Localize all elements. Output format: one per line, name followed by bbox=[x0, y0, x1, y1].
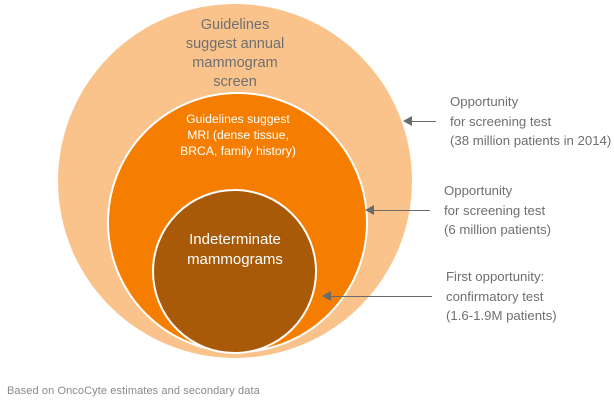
circle-label-annual-mammogram-screen: Guidelines suggest annual mammogram scre… bbox=[140, 16, 330, 93]
callout-text-middle: Opportunity for screening test (6 millio… bbox=[444, 181, 551, 240]
arrow-left-icon bbox=[403, 116, 436, 126]
source-note: Based on OncoCyte estimates and secondar… bbox=[7, 385, 260, 397]
arrow-left-icon bbox=[365, 205, 430, 215]
circle-label-indeterminate-mammograms: Indeterminate mammograms bbox=[150, 230, 320, 270]
circle-label-mri-guidelines: Guidelines suggest MRI (dense tissue, BR… bbox=[142, 111, 334, 159]
callout-middle-circle: Opportunity for screening test (6 millio… bbox=[365, 181, 551, 240]
diagram-canvas: Guidelines suggest annual mammogram scre… bbox=[0, 0, 614, 415]
callout-text-inner: First opportunity: confirmatory test (1.… bbox=[446, 267, 557, 326]
callout-text-outer: Opportunity for screening test (38 milli… bbox=[450, 92, 611, 151]
arrow-left-icon bbox=[322, 291, 432, 301]
callout-outer-circle: Opportunity for screening test (38 milli… bbox=[403, 92, 611, 151]
callout-inner-circle: First opportunity: confirmatory test (1.… bbox=[322, 267, 557, 326]
circle-indeterminate-mammograms bbox=[152, 189, 317, 354]
